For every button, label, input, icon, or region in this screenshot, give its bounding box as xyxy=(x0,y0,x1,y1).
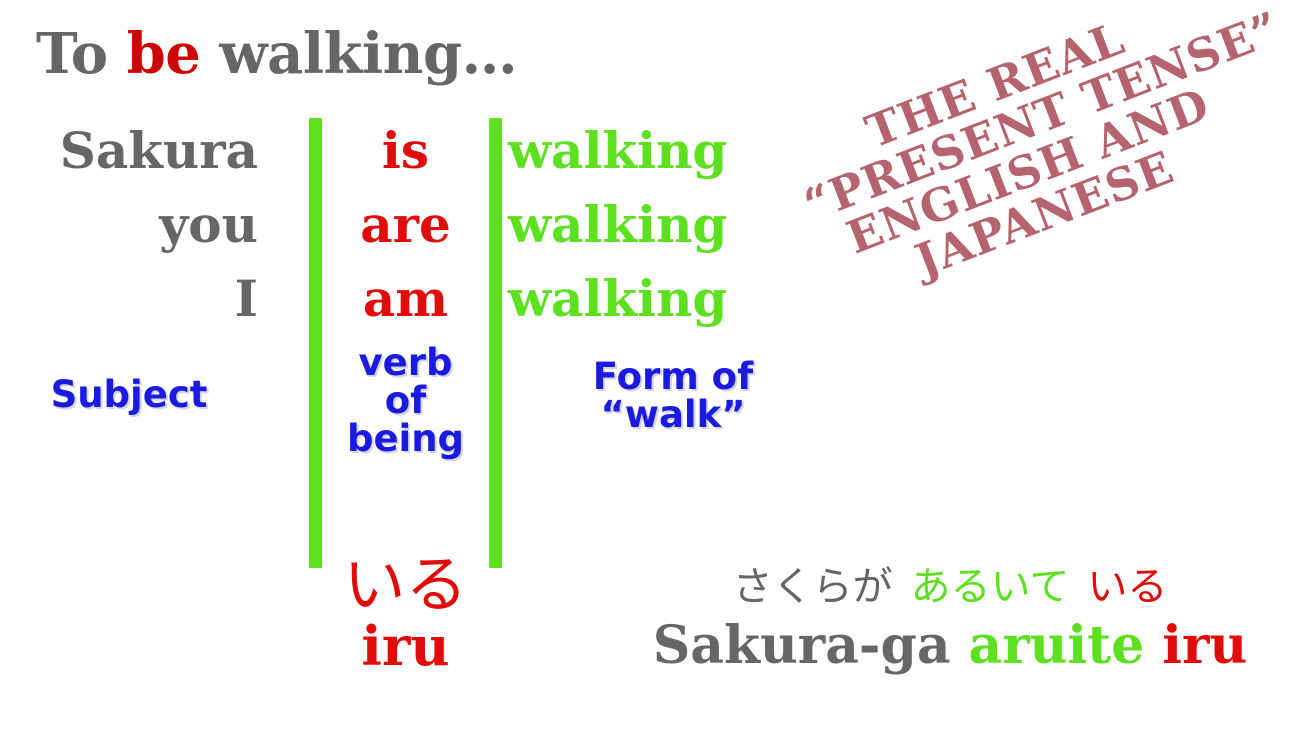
slide-canvas: To be walking… Sakura you I is are am wa… xyxy=(0,0,1305,732)
label-form-of-walk: Form of “walk” xyxy=(508,358,838,434)
subject-cell: Sakura xyxy=(0,114,258,188)
column-divider-right xyxy=(489,118,502,568)
kana-word-subject: さくらが xyxy=(733,564,893,610)
iru-block: いる iru xyxy=(322,552,489,675)
page-title: To be walking… xyxy=(36,26,517,82)
walking-cell: walking xyxy=(508,262,838,336)
romaji-word-subject: Sakura-ga xyxy=(653,615,951,676)
label-verb-of-being: verb of being xyxy=(322,344,489,458)
kana-word-verb: あるいて xyxy=(911,564,1070,610)
label-form-of-walk-line: Form of xyxy=(508,358,838,396)
label-verb-of-being-line: being xyxy=(322,420,489,458)
watermark-stamp: THE REAL “PRESENT TENSE” ENGLISH AND JAP… xyxy=(782,0,1259,314)
watermark-line: “PRESENT TENSE” xyxy=(798,28,1225,229)
watermark-line: THE REAL xyxy=(782,0,1209,186)
column-divider-left xyxy=(309,118,322,568)
walking-cell: walking xyxy=(508,188,838,262)
verb-cell: is xyxy=(322,114,489,188)
label-verb-of-being-line: of xyxy=(322,382,489,420)
watermark-line: ENGLISH AND xyxy=(815,71,1242,272)
title-emphasis-be: be xyxy=(127,21,201,87)
sentence-kana-line: さくらがあるいている xyxy=(620,562,1280,612)
romaji-word-verb: aruite xyxy=(969,615,1145,676)
title-part-2: walking… xyxy=(200,21,517,87)
label-subject-line: Subject xyxy=(0,376,258,414)
iru-kana: いる xyxy=(322,552,489,617)
verb-of-being-column: is are am xyxy=(322,114,489,336)
subject-cell: I xyxy=(0,262,258,336)
label-subject: Subject xyxy=(0,376,258,414)
label-verb-of-being-line: verb xyxy=(322,344,489,382)
iru-romaji: iru xyxy=(322,617,489,675)
sentence-romaji-line: Sakura-gaaruiteiru xyxy=(620,616,1280,676)
subject-cell: you xyxy=(0,188,258,262)
verb-cell: are xyxy=(322,188,489,262)
form-of-walk-column: walking walking walking xyxy=(508,114,838,336)
japanese-example-sentence: さくらがあるいている Sakura-gaaruiteiru xyxy=(620,562,1280,676)
romaji-word-aux: iru xyxy=(1162,615,1247,676)
walking-cell: walking xyxy=(508,114,838,188)
watermark-line: JAPANESE xyxy=(831,114,1258,315)
label-form-of-walk-line: “walk” xyxy=(508,396,838,434)
kana-word-aux: いる xyxy=(1087,564,1167,610)
subject-column: Sakura you I xyxy=(0,114,258,336)
verb-cell: am xyxy=(322,262,489,336)
title-part-1: To xyxy=(36,21,127,87)
